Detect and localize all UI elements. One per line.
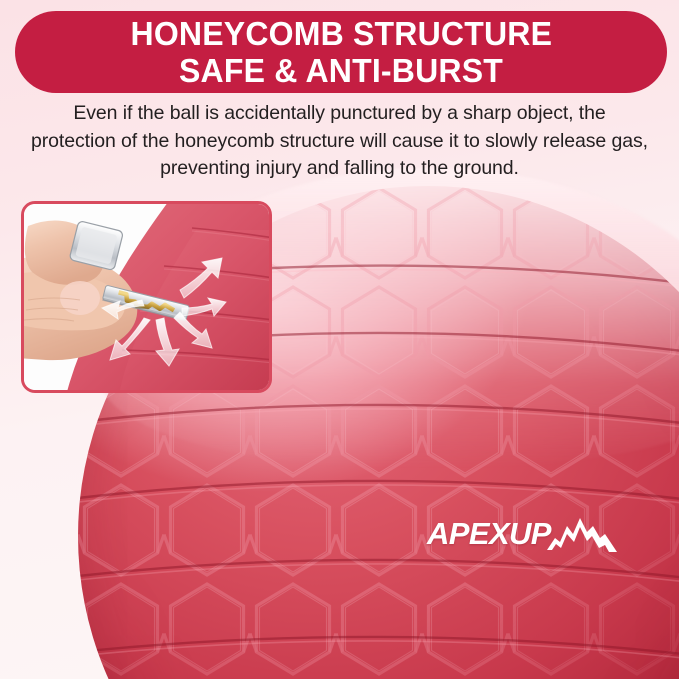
brand-logo: APEXUP	[427, 512, 617, 554]
headline-line-2: SAFE & ANTI-BURST	[179, 52, 503, 89]
description-paragraph: Even if the ball is accidentally punctur…	[30, 100, 649, 183]
mountain-peaks-icon	[547, 514, 617, 554]
headline-line-1: HONEYCOMB STRUCTURE	[130, 15, 552, 52]
headline-banner: HONEYCOMB STRUCTURE SAFE & ANTI-BURST	[15, 11, 667, 93]
brand-name: APEXUP	[427, 518, 551, 549]
puncture-demo-panel	[21, 201, 272, 393]
product-infographic: HONEYCOMB STRUCTURE SAFE & ANTI-BURST Ev…	[0, 0, 679, 679]
